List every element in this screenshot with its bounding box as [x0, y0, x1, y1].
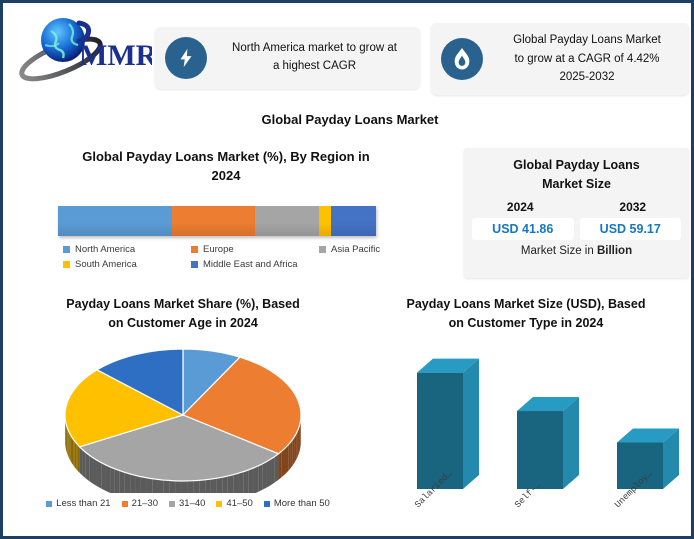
- pie-slice-side: [291, 439, 293, 468]
- pie-slice-side: [80, 447, 83, 476]
- region-segment-0: [58, 206, 172, 236]
- pie-slice-side: [69, 431, 70, 459]
- bar-title-line-2: on Customer Type in 2024: [375, 314, 677, 333]
- infographic-canvas: MMR North America market to grow at a hi…: [0, 0, 694, 539]
- pie-slice-side: [130, 474, 135, 493]
- region-legend-label: Middle East and Africa: [203, 259, 298, 270]
- pie-title-line-2: on Customer Age in 2024: [25, 314, 341, 333]
- pie-slice-side: [68, 429, 69, 457]
- pie-legend-item: More than 50: [264, 498, 330, 509]
- pie-slice-side: [286, 444, 288, 472]
- header: MMR North America market to grow at a hi…: [3, 3, 694, 108]
- pie-slice-side: [297, 428, 298, 457]
- header-badge-2-text: Global Payday Loans Market to grow at a …: [493, 31, 689, 86]
- market-size-year-2024: 2024: [464, 200, 577, 214]
- pie-slice-side: [275, 454, 279, 483]
- region-share-chart: Global Payday Loans Market (%), By Regio…: [11, 148, 441, 186]
- region-legend-label: South America: [75, 259, 137, 270]
- flame-icon: [441, 38, 483, 80]
- pie-slice-side: [239, 472, 244, 493]
- customer-type-chart: Payday Loans Market Size (USD), Based on…: [359, 295, 693, 333]
- pie-slice-side: [296, 431, 297, 460]
- region-legend-label: North America: [75, 244, 135, 255]
- badge-2-line-2: to grow at a CAGR of 4.42%: [493, 50, 681, 68]
- market-size-title-line-2: Market Size: [482, 175, 671, 194]
- bar-front: [417, 373, 463, 489]
- bar-column-1: [517, 397, 579, 489]
- region-legend-item: Middle East and Africa: [191, 259, 319, 270]
- pie-slice-side: [76, 443, 78, 471]
- region-legend-label: Europe: [203, 244, 234, 255]
- pie-slice-side: [222, 476, 228, 493]
- pie-slice-side: [66, 425, 67, 453]
- pie-slice-side: [170, 481, 176, 493]
- pie-legend-item: 21–30: [122, 498, 158, 509]
- pie-slice-side: [72, 437, 73, 465]
- bar-chart-title: Payday Loans Market Size (USD), Based on…: [359, 295, 693, 333]
- pie-slice-side: [147, 478, 153, 493]
- legend-swatch-icon: [264, 501, 270, 507]
- badge-1-line-2: a highest CAGR: [217, 58, 412, 76]
- region-legend-item: Asia Pacific: [319, 244, 393, 255]
- pie-slice-side: [152, 479, 158, 493]
- pie-slice-side: [295, 434, 297, 463]
- pie-slice-side: [164, 480, 170, 493]
- pie-slice-side: [67, 427, 68, 455]
- bar-side: [563, 397, 579, 489]
- pie-slice-side: [70, 433, 71, 461]
- pie-slice-side: [106, 465, 111, 493]
- market-size-year-2032: 2032: [577, 200, 690, 214]
- legend-swatch-icon: [191, 261, 198, 268]
- pie-slice-side: [278, 451, 281, 479]
- pie-slice-side: [101, 463, 105, 491]
- pie-legend-item: 31–40: [169, 498, 205, 509]
- badge-2-line-3: 2025-2032: [493, 68, 681, 86]
- market-size-footer: Market Size in Billion: [464, 245, 689, 257]
- globe-swoosh-icon: MMR: [17, 13, 152, 83]
- lightning-bolt-icon: [165, 37, 207, 79]
- pie-slice-side: [176, 481, 182, 493]
- pie-slice-side: [86, 452, 89, 481]
- pie-slice-side: [78, 445, 80, 473]
- pie-slice-side: [249, 468, 254, 493]
- brand-name: MMR: [79, 39, 152, 72]
- market-size-box: Global Payday Loans Market Size 2024 203…: [464, 148, 689, 278]
- pie-slice-side: [199, 480, 205, 493]
- bar-title-line-1: Payday Loans Market Size (USD), Based: [375, 295, 677, 314]
- pie-slice-side: [97, 460, 101, 488]
- market-size-footer-prefix: Market Size in: [521, 245, 597, 257]
- region-stacked-bar: [58, 206, 376, 236]
- region-chart-title: Global Payday Loans Market (%), By Regio…: [11, 148, 441, 186]
- pie-slice-side: [93, 458, 97, 486]
- pie-slice-side: [263, 461, 267, 489]
- pie-slice-side: [75, 441, 77, 469]
- pie-slice-side: [284, 447, 286, 475]
- customer-age-chart: Payday Loans Market Share (%), Based on …: [9, 295, 357, 333]
- pie-slice-side: [205, 479, 211, 493]
- market-size-footer-unit: Billion: [597, 245, 632, 257]
- region-title-line-2: 2024: [51, 167, 401, 186]
- pie-slice-side: [299, 426, 300, 455]
- pie-slice-side: [182, 481, 188, 493]
- region-segment-2: [255, 206, 319, 236]
- header-badge-north-america: North America market to grow at a highes…: [155, 27, 420, 89]
- pie-slice-side: [267, 459, 271, 487]
- badge-2-line-1: Global Payday Loans Market: [493, 31, 681, 49]
- pie-slice-side: [71, 435, 72, 463]
- market-size-values: USD 41.86 USD 59.17: [464, 218, 689, 240]
- bar-side: [463, 359, 479, 489]
- pie-slice-side: [244, 470, 249, 493]
- legend-swatch-icon: [169, 501, 175, 507]
- region-segment-3: [319, 206, 332, 236]
- pie-slice-side: [110, 467, 115, 493]
- market-size-title: Global Payday Loans Market Size: [464, 148, 689, 194]
- pie-legend-label: 21–30: [132, 498, 158, 509]
- bar-chart-graphic: Salaried…Self-…Unemploy…: [369, 339, 683, 524]
- pie-slice-side: [228, 475, 233, 493]
- legend-swatch-icon: [319, 246, 326, 253]
- pie-slice-side: [258, 464, 262, 492]
- region-segment-4: [331, 206, 376, 236]
- market-size-title-line-1: Global Payday Loans: [482, 156, 671, 175]
- pie-legend-item: 41–50: [216, 498, 252, 509]
- region-legend: North AmericaEuropeAsia PacificSouth Ame…: [63, 244, 393, 270]
- legend-swatch-icon: [46, 501, 52, 507]
- pie-legend-label: More than 50: [274, 498, 330, 509]
- region-title-line-1: Global Payday Loans Market (%), By Regio…: [51, 148, 401, 167]
- header-badge-1-text: North America market to grow at a highes…: [217, 40, 420, 76]
- pie-slice-side: [73, 439, 74, 467]
- legend-swatch-icon: [63, 261, 70, 268]
- pie-slice-side: [83, 450, 86, 479]
- pie-slice-side: [158, 479, 164, 493]
- pie-slice-side: [89, 455, 93, 484]
- pie-chart-graphic: [47, 343, 319, 493]
- pie-slice-side: [217, 477, 223, 493]
- region-segment-1: [172, 206, 255, 236]
- pie-slice-side: [281, 449, 284, 477]
- legend-swatch-icon: [122, 501, 128, 507]
- pie-chart-title: Payday Loans Market Share (%), Based on …: [9, 295, 357, 333]
- legend-swatch-icon: [191, 246, 198, 253]
- pie-title-line-1: Payday Loans Market Share (%), Based: [25, 295, 341, 314]
- region-legend-label: Asia Pacific: [331, 244, 380, 255]
- pie-slice-side: [271, 456, 275, 485]
- badge-1-line-1: North America market to grow at: [217, 40, 412, 58]
- brand-logo: MMR: [17, 13, 152, 83]
- legend-swatch-icon: [216, 501, 222, 507]
- market-size-years: 2024 2032: [464, 200, 689, 214]
- region-legend-item: Europe: [191, 244, 319, 255]
- pie-slice-side: [135, 475, 140, 493]
- pie-legend: Less than 2121–3031–4041–50More than 50: [23, 498, 353, 509]
- pie-slice-side: [115, 469, 120, 493]
- pie-slice-side: [233, 473, 238, 493]
- pie-slice-side: [254, 466, 259, 493]
- bar-front: [517, 411, 563, 489]
- header-badge-cagr: Global Payday Loans Market to grow at a …: [431, 23, 689, 95]
- legend-swatch-icon: [63, 246, 70, 253]
- pie-slice-side: [125, 472, 130, 493]
- page-title: Global Payday Loans Market: [3, 112, 694, 127]
- pie-slice-side: [187, 481, 193, 493]
- market-size-value-2032: USD 59.17: [580, 218, 682, 240]
- pie-legend-item: Less than 21: [46, 498, 110, 509]
- pie-slice-side: [141, 477, 147, 493]
- region-legend-item: South America: [63, 259, 191, 270]
- pie-slice-side: [211, 478, 217, 493]
- market-size-value-2024: USD 41.86: [472, 218, 574, 240]
- region-legend-item: North America: [63, 244, 191, 255]
- pie-slice-side: [293, 436, 295, 465]
- pie-legend-label: 41–50: [226, 498, 252, 509]
- pie-legend-label: Less than 21: [56, 498, 110, 509]
- pie-slice-side: [120, 471, 125, 493]
- pie-legend-label: 31–40: [179, 498, 205, 509]
- pie-slice-side: [193, 480, 199, 493]
- pie-slice-side: [289, 442, 291, 471]
